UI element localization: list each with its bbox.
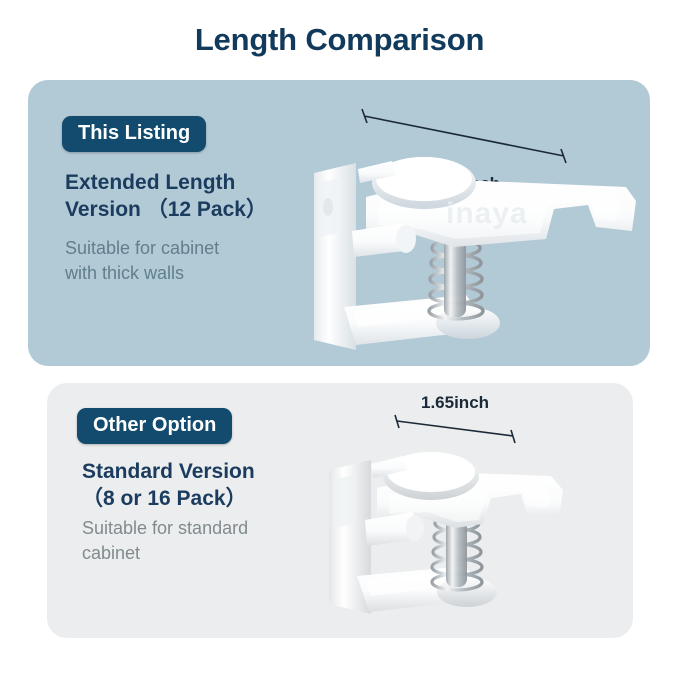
product-image-cabinet-latch-extended: inaya [296, 135, 650, 365]
svg-text:inaya: inaya [446, 197, 528, 230]
comparison-panel-other-option: Other Option Standard Version （8 or 16 P… [47, 383, 633, 638]
page-title: Length Comparison [0, 22, 679, 58]
product-image-cabinet-latch-standard [315, 428, 633, 628]
comparison-panel-this-listing: This Listing Extended Length Version （12… [28, 80, 650, 366]
